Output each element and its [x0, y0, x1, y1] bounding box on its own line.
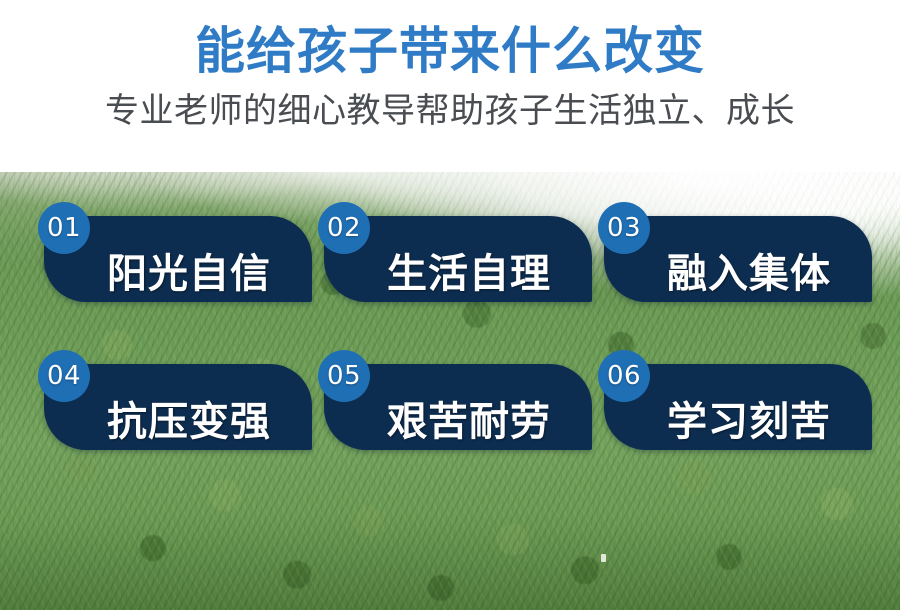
benefit-card-6[interactable]: 学习刻苦 06: [598, 350, 876, 450]
card-number-badge: 01: [38, 202, 90, 254]
page-title: 能给孩子带来什么改变: [0, 0, 900, 81]
card-label: 生活自理: [324, 254, 584, 294]
card-label: 融入集体: [604, 254, 864, 294]
benefit-card-3[interactable]: 融入集体 03: [598, 202, 876, 302]
card-label: 阳光自信: [44, 254, 304, 294]
benefit-card-5[interactable]: 艰苦耐劳 05: [318, 350, 596, 450]
card-number-badge: 05: [318, 350, 370, 402]
benefit-card-4[interactable]: 抗压变强 04: [38, 350, 316, 450]
card-number-badge: 06: [598, 350, 650, 402]
card-number-badge: 04: [38, 350, 90, 402]
benefit-card-grid: 阳光自信 01 生活自理 02 融入集体 03 抗压变强 04 艰苦耐劳: [0, 168, 900, 610]
poster-root: 能给孩子带来什么改变 专业老师的细心教导帮助孩子生活独立、成长 阳光自信 01 …: [0, 0, 900, 610]
card-number-badge: 03: [598, 202, 650, 254]
card-label: 艰苦耐劳: [324, 402, 584, 442]
card-label: 学习刻苦: [604, 402, 864, 442]
header: 能给孩子带来什么改变 专业老师的细心教导帮助孩子生活独立、成长: [0, 0, 900, 172]
page-subtitle: 专业老师的细心教导帮助孩子生活独立、成长: [0, 81, 900, 132]
card-number-badge: 02: [318, 202, 370, 254]
benefit-card-2[interactable]: 生活自理 02: [318, 202, 596, 302]
benefit-card-1[interactable]: 阳光自信 01: [38, 202, 316, 302]
card-label: 抗压变强: [44, 402, 304, 442]
